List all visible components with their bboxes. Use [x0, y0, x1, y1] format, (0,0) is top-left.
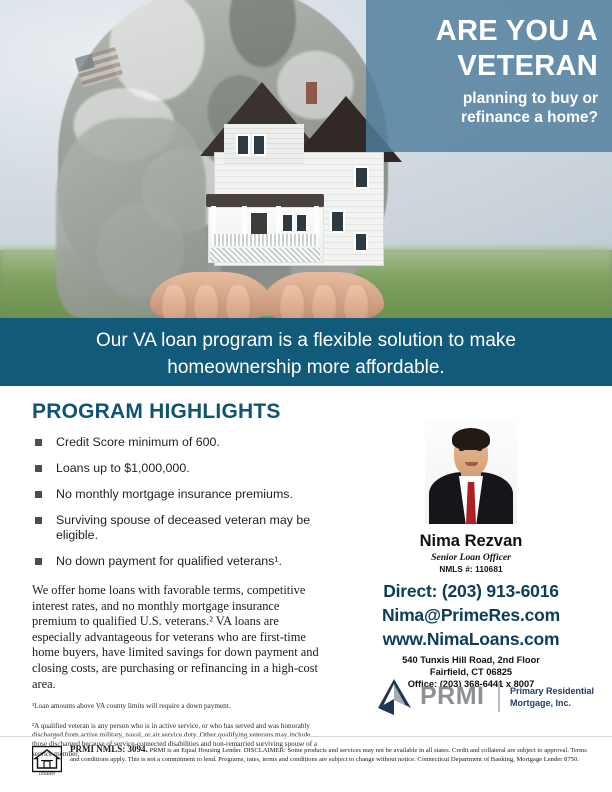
- subheadline-line-2: refinance a home?: [366, 108, 598, 127]
- logo-tagline: Primary Residential Mortgage, Inc.: [510, 686, 594, 709]
- footer-divider: [0, 736, 612, 737]
- window-upper-right: [354, 166, 369, 189]
- window-side: [354, 232, 368, 252]
- equal-housing-lender-icon: LENDER: [32, 746, 62, 776]
- officer-title: Senior Loan Officer: [346, 552, 596, 563]
- headline-panel: ARE YOU A VETERAN planning to buy or ref…: [366, 0, 612, 152]
- finger-2: [194, 284, 220, 318]
- prmi-nmls-label: PRMI NMLS: 3094.: [70, 744, 148, 754]
- contact-column: Nima Rezvan Senior Loan Officer NMLS #: …: [346, 420, 596, 690]
- logo-tagline-line-2: Mortgage, Inc.: [510, 698, 594, 710]
- headline-line-1: ARE YOU A: [366, 16, 598, 46]
- tagline-banner: Our VA loan program is a flexible soluti…: [0, 318, 612, 386]
- website-url[interactable]: www.NimaLoans.com: [346, 629, 596, 650]
- hero-section: ARE YOU A VETERAN planning to buy or ref…: [0, 0, 612, 318]
- photo-eye-right: [477, 448, 482, 451]
- list-item: Credit Score minimum of 600.: [32, 435, 324, 450]
- officer-name: Nima Rezvan: [346, 532, 596, 551]
- finger-6: [344, 284, 370, 318]
- email-address[interactable]: Nima@PrimeRes.com: [346, 605, 596, 626]
- list-item: Loans up to $1,000,000.: [32, 461, 324, 476]
- window-lower-right: [330, 210, 345, 233]
- body-paragraph: We offer home loans with favorable terms…: [32, 583, 324, 692]
- list-item: Surviving spouse of deceased veteran may…: [32, 513, 324, 543]
- disclaimer-text: PRMI is an Equal Housing Lender. DISCLAI…: [70, 747, 587, 763]
- address-line-1: 540 Tunxis Hill Road, 2nd Floor: [346, 654, 596, 666]
- finger-3: [226, 284, 252, 318]
- svg-text:LENDER: LENDER: [39, 771, 55, 776]
- porch-roof: [206, 194, 324, 207]
- window-gable-right: [252, 134, 266, 156]
- porch-lattice: [210, 248, 320, 262]
- legal-disclaimer: PRMI NMLS: 3094. PRMI is an Equal Housin…: [70, 745, 590, 764]
- logo-divider: [498, 682, 500, 712]
- window-porch-right: [296, 214, 307, 232]
- avatar: [425, 420, 517, 524]
- phone-direct[interactable]: Direct: (203) 913-6016: [346, 581, 596, 602]
- finger-4: [280, 284, 306, 318]
- prmi-logo: PRMI Primary Residential Mortgage, Inc.: [376, 676, 606, 720]
- left-content-column: PROGRAM HIGHLIGHTS Credit Score minimum …: [32, 400, 324, 759]
- footnote-1: ¹Loan amounts above VA county limits wil…: [32, 702, 324, 711]
- photo-hair: [452, 428, 490, 450]
- photo-eye-left: [459, 448, 464, 451]
- prmi-wordmark: PRMI: [420, 682, 485, 711]
- prmi-diamond-icon: [376, 678, 412, 716]
- list-item: No down payment for qualified veterans¹.: [32, 554, 324, 569]
- porch-railing: [212, 234, 318, 246]
- photo-smile: [465, 462, 478, 466]
- finger-5: [312, 284, 338, 318]
- banner-line-1: Our VA loan program is a flexible soluti…: [0, 318, 612, 354]
- logo-tagline-line-1: Primary Residential: [510, 686, 594, 698]
- finger-1: [162, 284, 188, 318]
- officer-nmls: NMLS #: 110681: [346, 565, 596, 574]
- window-porch-left: [282, 214, 293, 232]
- subheadline-line-1: planning to buy or: [366, 89, 598, 108]
- headline-line-2: VETERAN: [366, 50, 598, 82]
- window-gable-left: [236, 134, 250, 156]
- banner-line-2: homeownership more affordable.: [0, 354, 612, 381]
- list-item: No monthly mortgage insurance premiums.: [32, 487, 324, 502]
- program-highlights-heading: PROGRAM HIGHLIGHTS: [32, 400, 324, 424]
- program-highlights-list: Credit Score minimum of 600. Loans up to…: [32, 435, 324, 569]
- hands-holding-house: [150, 272, 400, 318]
